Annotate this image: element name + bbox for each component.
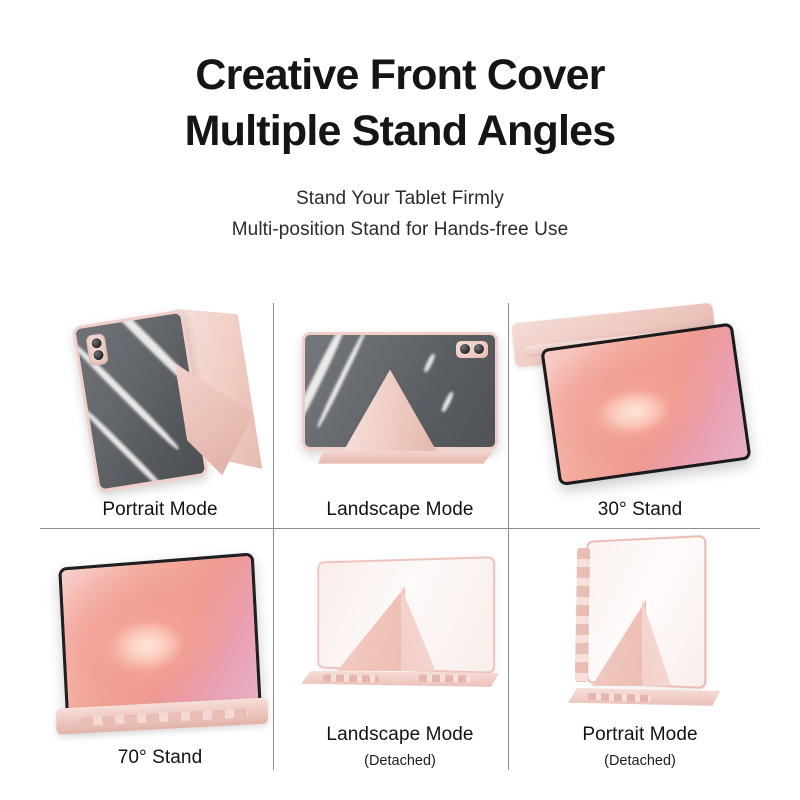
caption-label: Landscape Mode xyxy=(280,724,520,747)
subtitle-line-1: Stand Your Tablet Firmly xyxy=(0,184,800,215)
cover-only-landscape-illustration xyxy=(301,559,499,693)
caption-label: Portrait Mode xyxy=(520,724,760,747)
tablet-device xyxy=(540,322,751,486)
tablet-back-portrait-illustration xyxy=(64,301,256,493)
caption-stand-30: 30° Stand xyxy=(520,499,760,528)
product-image-portrait-mode xyxy=(40,296,280,499)
caption-landscape-mode: Landscape Mode xyxy=(280,499,520,528)
subtitle-line-2: Multi-position Stand for Hands-free Use xyxy=(0,215,800,246)
tablet-device xyxy=(58,552,262,723)
caption-label: Landscape Mode xyxy=(280,499,520,522)
product-image-stand-30 xyxy=(520,296,760,499)
tablet-screen-30deg-illustration xyxy=(528,308,751,487)
caption-portrait-detached: Portrait Mode (Detached) xyxy=(520,724,760,776)
grid-cell-stand-30: 30° Stand xyxy=(520,296,760,528)
cover-base-panel xyxy=(318,451,494,464)
tablet-screen-wallpaper xyxy=(544,325,749,482)
magnetic-strip xyxy=(323,674,379,682)
caption-sub-label: (Detached) xyxy=(280,753,520,770)
grid-cell-landscape-mode-detached: Landscape Mode (Detached) xyxy=(280,528,520,776)
grid-cell-landscape-mode: Landscape Mode xyxy=(280,296,520,528)
cover-spine xyxy=(575,548,590,682)
caption-portrait-mode: Portrait Mode xyxy=(40,499,280,528)
tablet-screen-70deg-illustration xyxy=(58,552,262,723)
caption-stand-70: 70° Stand xyxy=(40,747,280,776)
product-infographic: Creative Front Cover Multiple Stand Angl… xyxy=(0,0,800,800)
caption-label: 70° Stand xyxy=(40,747,280,770)
page-title-line-1: Creative Front Cover xyxy=(0,48,800,104)
product-image-portrait-detached xyxy=(520,528,760,724)
feature-grid: Portrait Mode xyxy=(40,296,760,776)
grid-cell-portrait-mode: Portrait Mode xyxy=(40,296,280,528)
caption-sub-label: (Detached) xyxy=(520,753,760,770)
header: Creative Front Cover Multiple Stand Angl… xyxy=(0,0,800,245)
caption-landscape-detached: Landscape Mode (Detached) xyxy=(280,724,520,776)
caption-label: 30° Stand xyxy=(520,499,760,522)
page-title-line-2: Multiple Stand Angles xyxy=(0,104,800,160)
product-image-stand-70 xyxy=(40,528,280,747)
grid-cell-stand-70: 70° Stand xyxy=(40,528,280,776)
cover-only-portrait-illustration xyxy=(560,538,720,714)
subtitle-block: Stand Your Tablet Firmly Multi-position … xyxy=(0,184,800,246)
camera-module-icon xyxy=(85,333,109,367)
tablet-screen-wallpaper xyxy=(61,555,258,720)
tablet-back-landscape-illustration xyxy=(302,332,498,464)
caption-label: Portrait Mode xyxy=(40,499,280,522)
product-image-landscape-mode xyxy=(280,296,520,499)
magnetic-strip xyxy=(419,674,471,682)
grid-cell-portrait-mode-detached: Portrait Mode (Detached) xyxy=(520,528,760,776)
camera-module-icon xyxy=(456,341,488,358)
product-image-landscape-detached xyxy=(280,528,520,724)
